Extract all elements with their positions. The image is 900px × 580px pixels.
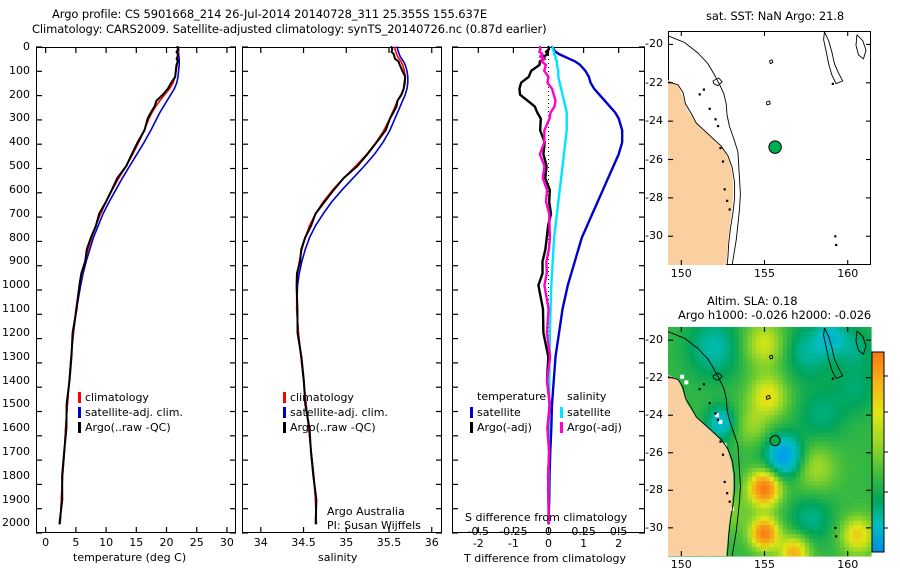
sst-latitude-tick-label: -26: [645, 153, 663, 166]
difference-plot-canvas: [452, 47, 645, 533]
temperature-axis-label: temperature (deg C): [73, 551, 186, 564]
legend-color-swatch: [470, 407, 473, 418]
sla-latitude-tick-label: -22: [645, 371, 663, 384]
difference-salinity-axis-label: S difference from climatology: [465, 511, 627, 524]
difference-salinity-legend-item: Argo(-adj): [560, 420, 622, 435]
sla-map-panel: [668, 327, 871, 556]
sst-map-y-tick-labels: -20-22-24-26-28-30: [636, 31, 666, 265]
sla-longitude-tick-label: 150: [671, 558, 692, 571]
temperature-tick-label: 5: [72, 536, 79, 549]
depth-tick-label: 500: [9, 159, 30, 172]
australia-landmass: [668, 80, 733, 265]
legend-label: Argo(-adj): [477, 421, 532, 434]
sst-map-title: sat. SST: NaN Argo: 21.8: [706, 9, 844, 23]
salinity-tick-label: 36: [425, 536, 439, 549]
difference-t-tick-label: 0: [545, 537, 552, 550]
difference-t-tick-label: -2: [473, 537, 484, 550]
depth-tick-label: 1700: [2, 445, 30, 458]
legend-color-swatch: [560, 407, 563, 418]
temperature-panel: [36, 47, 236, 533]
depth-tick-label: 1500: [2, 397, 30, 410]
sst-map-panel: [668, 31, 871, 265]
sla-colorbar: [872, 352, 884, 552]
temperature-legend-item: satellite-adj. clim.: [78, 405, 183, 420]
salinity-panel: [242, 47, 442, 533]
legend-color-swatch: [78, 392, 81, 403]
salinity-tick-label: 35.5: [377, 536, 402, 549]
difference-legend-temperature: temperaturesatelliteArgo(-adj): [470, 390, 546, 435]
salinity-legend-item: satellite-adj. clim.: [283, 405, 388, 420]
argo-australia-credit: Argo Australia: [327, 505, 405, 518]
sst-longitude-tick-label: 160: [837, 267, 858, 280]
sst-latitude-tick-label: -30: [645, 229, 663, 242]
depth-tick-label: 100: [9, 64, 30, 77]
sla-longitude-tick-label: 155: [754, 558, 775, 571]
legend-label: Argo(-adj): [567, 421, 622, 434]
depth-tick-label: 800: [9, 231, 30, 244]
legend-label: Argo(..raw -QC): [290, 421, 376, 434]
salinity-tick-label: 34: [254, 536, 268, 549]
depth-tick-label: 2000: [2, 516, 30, 529]
salinity-legend-item: climatology: [283, 390, 388, 405]
legend-color-swatch: [560, 422, 563, 433]
sla-map-title-line-1: Altim. SLA: 0.18: [707, 294, 797, 308]
temperature-tick-label: 20: [160, 536, 174, 549]
salinity-tick-label: 35: [339, 536, 353, 549]
argo-pi-credit: PI: Susan Wijffels: [327, 519, 421, 532]
temperature-tick-label: 15: [129, 536, 143, 549]
difference-panel: [452, 47, 645, 533]
temperature-tick-label: 25: [190, 536, 204, 549]
temperature-legend: climatologysatellite-adj. clim.Argo(..ra…: [78, 390, 183, 435]
depth-tick-label: 1000: [2, 278, 30, 291]
legend-color-swatch: [78, 407, 81, 418]
legend-color-swatch: [283, 422, 286, 433]
depth-tick-label: 1300: [2, 350, 30, 363]
difference-legend-salinity: salinitysatelliteArgo(-adj): [560, 390, 622, 435]
depth-tick-label: 900: [9, 254, 30, 267]
depth-tick-label: 1600: [2, 421, 30, 434]
legend-label: satellite: [567, 406, 611, 419]
legend-label: satellite: [477, 406, 521, 419]
temperature-tick-label: 0: [42, 536, 49, 549]
difference-t-tick-label: -1: [508, 537, 519, 550]
argo-profile-marker: [769, 141, 781, 153]
temperature-depth-tick-labels: 0100200300400500600700800900100011001200…: [0, 47, 34, 533]
salinity-legend-item: Argo(..raw -QC): [283, 420, 388, 435]
depth-tick-label: 1100: [2, 302, 30, 315]
sst-longitude-tick-label: 150: [671, 267, 692, 280]
temperature-tick-label: 30: [220, 536, 234, 549]
depth-tick-label: 400: [9, 135, 30, 148]
depth-tick-label: 1400: [2, 374, 30, 387]
difference-salinity-legend-item: satellite: [560, 405, 622, 420]
sst-longitude-tick-label: 155: [754, 267, 775, 280]
sla-map-canvas: [668, 327, 871, 556]
temperature-legend-item: Argo(..raw -QC): [78, 420, 183, 435]
temperature-legend-item: climatology: [78, 390, 183, 405]
sla-map-y-tick-labels: -20-22-24-26-28-30: [636, 327, 666, 556]
legend-label: satellite-adj. clim.: [290, 406, 388, 419]
sla-latitude-tick-label: -20: [645, 333, 663, 346]
temperature-x-tick-labels: 051015202530: [36, 536, 236, 550]
depth-tick-label: 1800: [2, 469, 30, 482]
difference-temperature-legend-item: satellite: [470, 405, 546, 420]
legend-color-swatch: [283, 392, 286, 403]
depth-tick-label: 1900: [2, 493, 30, 506]
legend-label: satellite-adj. clim.: [85, 406, 183, 419]
sla-latitude-tick-label: -26: [645, 446, 663, 459]
sst-map-canvas: [668, 31, 871, 265]
legend-label: Argo(..raw -QC): [85, 421, 171, 434]
legend-label: climatology: [290, 391, 354, 404]
salinity-axis-label: salinity: [318, 551, 357, 564]
argo-profile-marker: [770, 436, 780, 446]
sst-latitude-tick-label: -20: [645, 37, 663, 50]
sst-latitude-tick-label: -24: [645, 114, 663, 127]
difference-temperature-tick-labels: -2-1012: [452, 537, 645, 550]
depth-tick-label: 1200: [2, 326, 30, 339]
sla-map-x-tick-labels: 150155160: [668, 558, 871, 572]
sst-latitude-tick-label: -22: [645, 76, 663, 89]
sla-latitude-tick-label: -28: [645, 483, 663, 496]
temperature-tick-label: 10: [99, 536, 113, 549]
legend-color-swatch: [78, 422, 81, 433]
difference-t-tick-label: 2: [615, 537, 622, 550]
depth-tick-label: 700: [9, 207, 30, 220]
salinity-tick-label: 34.5: [291, 536, 316, 549]
depth-tick-label: 200: [9, 88, 30, 101]
difference-t-tick-label: 1: [580, 537, 587, 550]
header-line-2: Climatology: CARS2009. Satellite-adjuste…: [32, 22, 547, 36]
legend-color-swatch: [283, 407, 286, 418]
temperature-plot-canvas: [36, 47, 236, 533]
difference-temperature-legend-item: Argo(-adj): [470, 420, 546, 435]
salinity-legend: climatologysatellite-adj. clim.Argo(..ra…: [283, 390, 388, 435]
header-line-1: Argo profile: CS 5901668_214 26-Jul-2014…: [52, 7, 487, 21]
sla-longitude-tick-label: 160: [837, 558, 858, 571]
sla-latitude-tick-label: -24: [645, 408, 663, 421]
depth-tick-label: 600: [9, 183, 30, 196]
depth-tick-label: 0: [23, 40, 30, 53]
difference-temperature-legend-heading: temperature: [470, 390, 546, 405]
salinity-plot-canvas: [242, 47, 442, 533]
sst-latitude-tick-label: -28: [645, 191, 663, 204]
sst-map-x-tick-labels: 150155160: [668, 267, 871, 281]
difference-temperature-axis-label: T difference from climatology: [464, 552, 626, 565]
sla-latitude-tick-label: -30: [645, 521, 663, 534]
sla-map-title-line-2: Argo h1000: -0.026 h2000: -0.026: [678, 308, 871, 322]
difference-salinity-legend-heading: salinity: [560, 390, 622, 405]
legend-label: climatology: [85, 391, 149, 404]
depth-tick-label: 300: [9, 111, 30, 124]
salinity-x-tick-labels: 3434.53535.536: [242, 536, 442, 550]
legend-color-swatch: [470, 422, 473, 433]
